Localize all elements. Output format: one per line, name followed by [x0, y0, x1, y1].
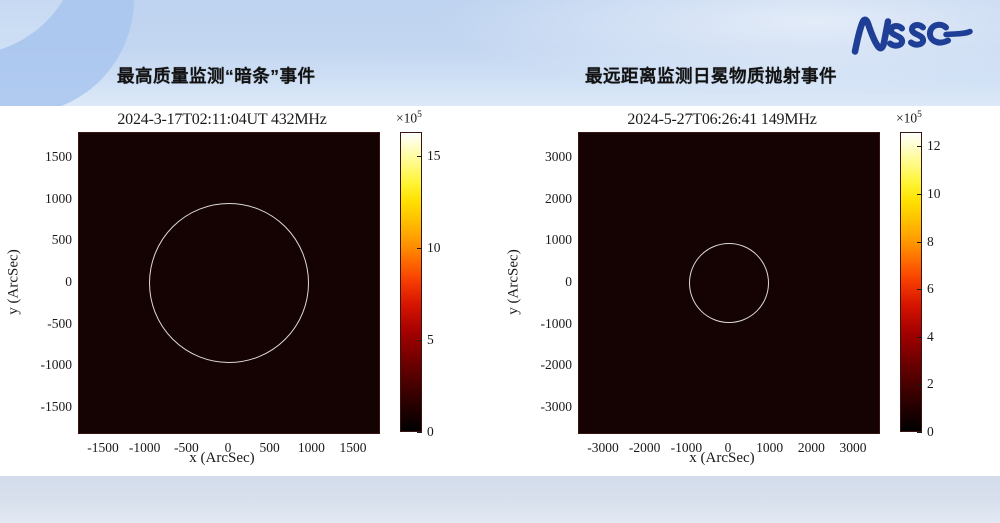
colorbar-gradient-right	[900, 132, 922, 432]
colorbar-tick-mark	[417, 340, 422, 341]
radio-image-right	[578, 132, 880, 434]
colorbar-tick-label: 4	[927, 329, 934, 345]
colorbar-exponent-base-left: ×10	[396, 111, 417, 126]
colorbar-exponent-base-right: ×10	[896, 111, 917, 126]
colorbar-left: ×105 051015	[400, 132, 422, 432]
figure-panel-right: 2024-5-27T06:26:41 149MHz 3000200010000-…	[500, 106, 1000, 476]
colorbar-exponent-power-left: 5	[417, 110, 422, 120]
colorbar-tick-mark	[417, 248, 422, 249]
y-axis-label-right: y (ArcSec)	[506, 249, 523, 314]
figure-title-right: 2024-5-27T06:26:41 149MHz	[500, 111, 1000, 129]
slide-footer-strip	[0, 476, 1000, 523]
solar-limb-circle-right	[689, 243, 769, 323]
y-tick-label: -1000	[500, 316, 572, 332]
colorbar-tick-mark	[917, 384, 922, 385]
heading-left: 最高质量监测“暗条”事件	[117, 63, 316, 88]
colorbar-tick-mark	[917, 289, 922, 290]
colorbar-exponent-power-right: 5	[917, 110, 922, 120]
colorbar-tick-label: 15	[427, 148, 441, 164]
colorbar-tick-label: 10	[927, 186, 941, 202]
colorbar-tick-mark	[917, 337, 922, 338]
colorbar-tick-mark	[417, 432, 422, 433]
colorbar-tick-label: 0	[427, 424, 434, 440]
colorbar-exponent-left: ×105	[396, 110, 422, 127]
y-tick-label: -3000	[500, 399, 572, 415]
heading-right: 最远距离监测日冕物质抛射事件	[585, 63, 837, 88]
colorbar-tick-label: 2	[927, 376, 934, 392]
figure-panel-left: 2024-3-17T02:11:04UT 432MHz 150010005000…	[0, 106, 500, 476]
colorbar-exponent-right: ×105	[896, 110, 922, 127]
slide-banner: 最高质量监测“暗条”事件 最远距离监测日冕物质抛射事件	[0, 0, 1000, 106]
colorbar-tick-mark	[917, 146, 922, 147]
x-axis-label-left: x (ArcSec)	[0, 450, 500, 467]
colorbar-tick-label: 0	[927, 424, 934, 440]
colorbar-tick-label: 10	[427, 240, 441, 256]
colorbar-tick-label: 12	[927, 138, 941, 154]
x-axis-label-right: x (ArcSec)	[500, 450, 1000, 467]
y-tick-label: -2000	[500, 357, 572, 373]
solar-limb-circle-left	[149, 203, 309, 363]
nssc-logo	[848, 14, 978, 60]
colorbar-tick-mark	[917, 194, 922, 195]
y-axis-label-left: y (ArcSec)	[6, 249, 23, 314]
figure-title-left: 2024-3-17T02:11:04UT 432MHz	[0, 111, 500, 129]
colorbar-right: ×105 024681012	[900, 132, 922, 432]
y-tick-label: -1500	[0, 399, 72, 415]
colorbar-gradient-left	[400, 132, 422, 432]
y-tick-label: 1000	[500, 232, 572, 248]
y-tick-label: -500	[0, 316, 72, 332]
radio-image-left	[78, 132, 380, 434]
slide-content: 2024-3-17T02:11:04UT 432MHz 150010005000…	[0, 106, 1000, 476]
y-tick-label: 500	[0, 232, 72, 248]
colorbar-tick-label: 5	[427, 332, 434, 348]
colorbar-tick-label: 8	[927, 234, 934, 250]
colorbar-tick-mark	[417, 156, 422, 157]
y-tick-label: 1000	[0, 191, 72, 207]
colorbar-tick-mark	[917, 432, 922, 433]
colorbar-tick-label: 6	[927, 281, 934, 297]
y-tick-label: 1500	[0, 149, 72, 165]
colorbar-tick-mark	[917, 242, 922, 243]
y-tick-label: -1000	[0, 357, 72, 373]
y-tick-label: 2000	[500, 191, 572, 207]
y-tick-label: 3000	[500, 149, 572, 165]
